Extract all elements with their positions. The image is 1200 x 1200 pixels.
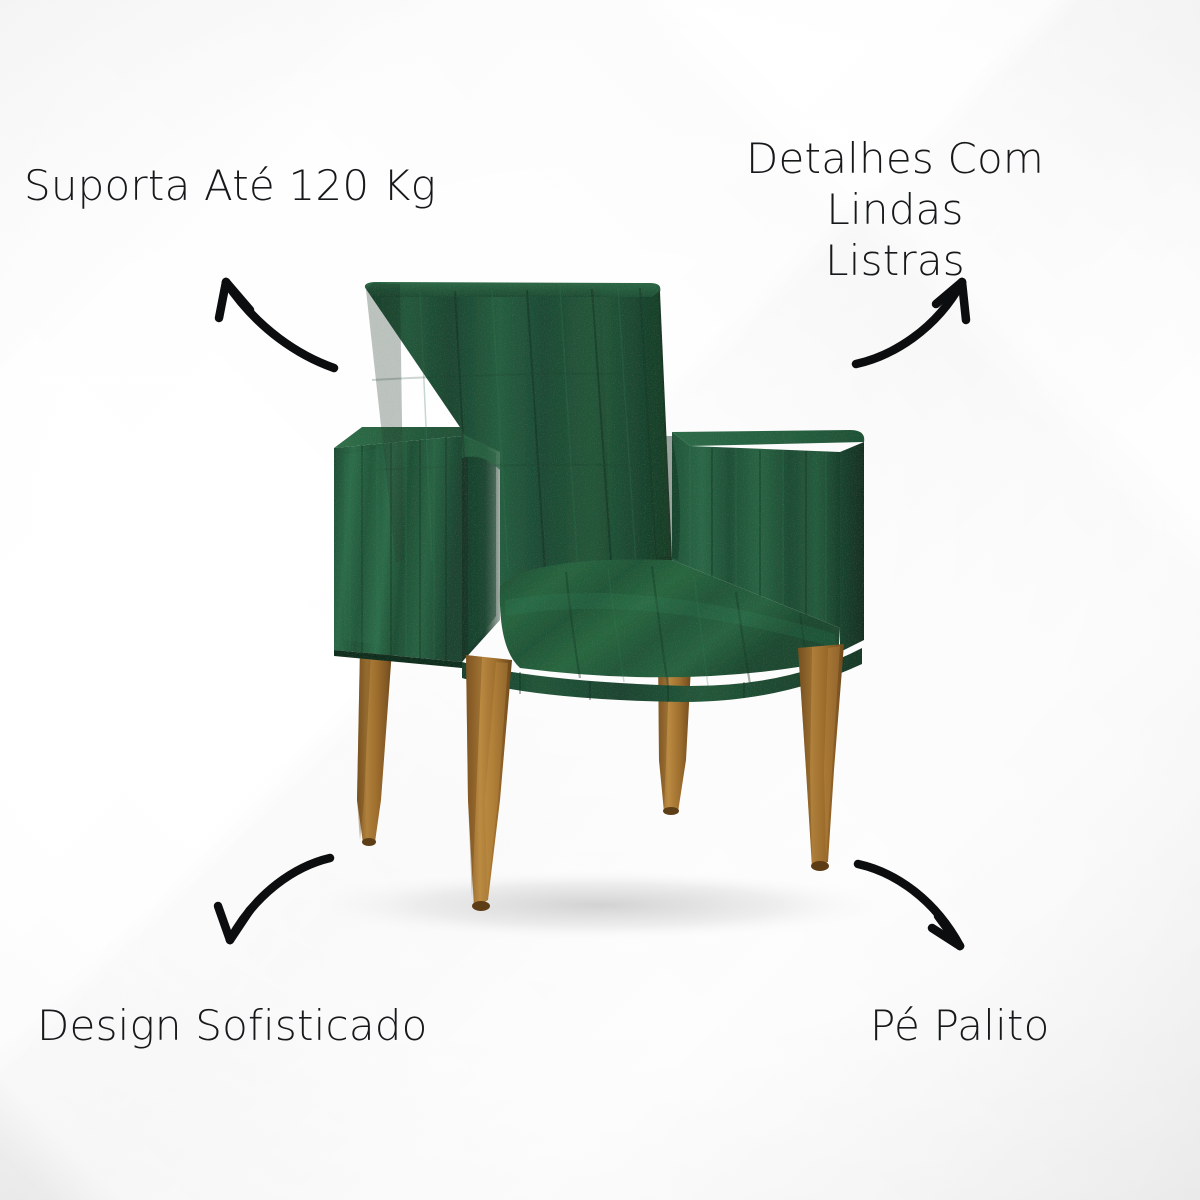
caption-suporta-ate-120kg: Suporta Até 120 Kg (24, 160, 436, 211)
leg-front-right (798, 644, 844, 871)
product-callout-canvas: Suporta Até 120 Kg Detalhes Com Lindas L… (0, 0, 1200, 1200)
caption-pe-palito: Pé Palito (870, 1000, 1050, 1051)
floor-shadow (300, 869, 900, 941)
leg-back-left (357, 648, 392, 846)
caption-detalhes-com-lindas-listras: Detalhes Com Lindas Listras (715, 133, 1075, 287)
caption-design-sofisticado: Design Sofisticado (37, 1000, 428, 1051)
